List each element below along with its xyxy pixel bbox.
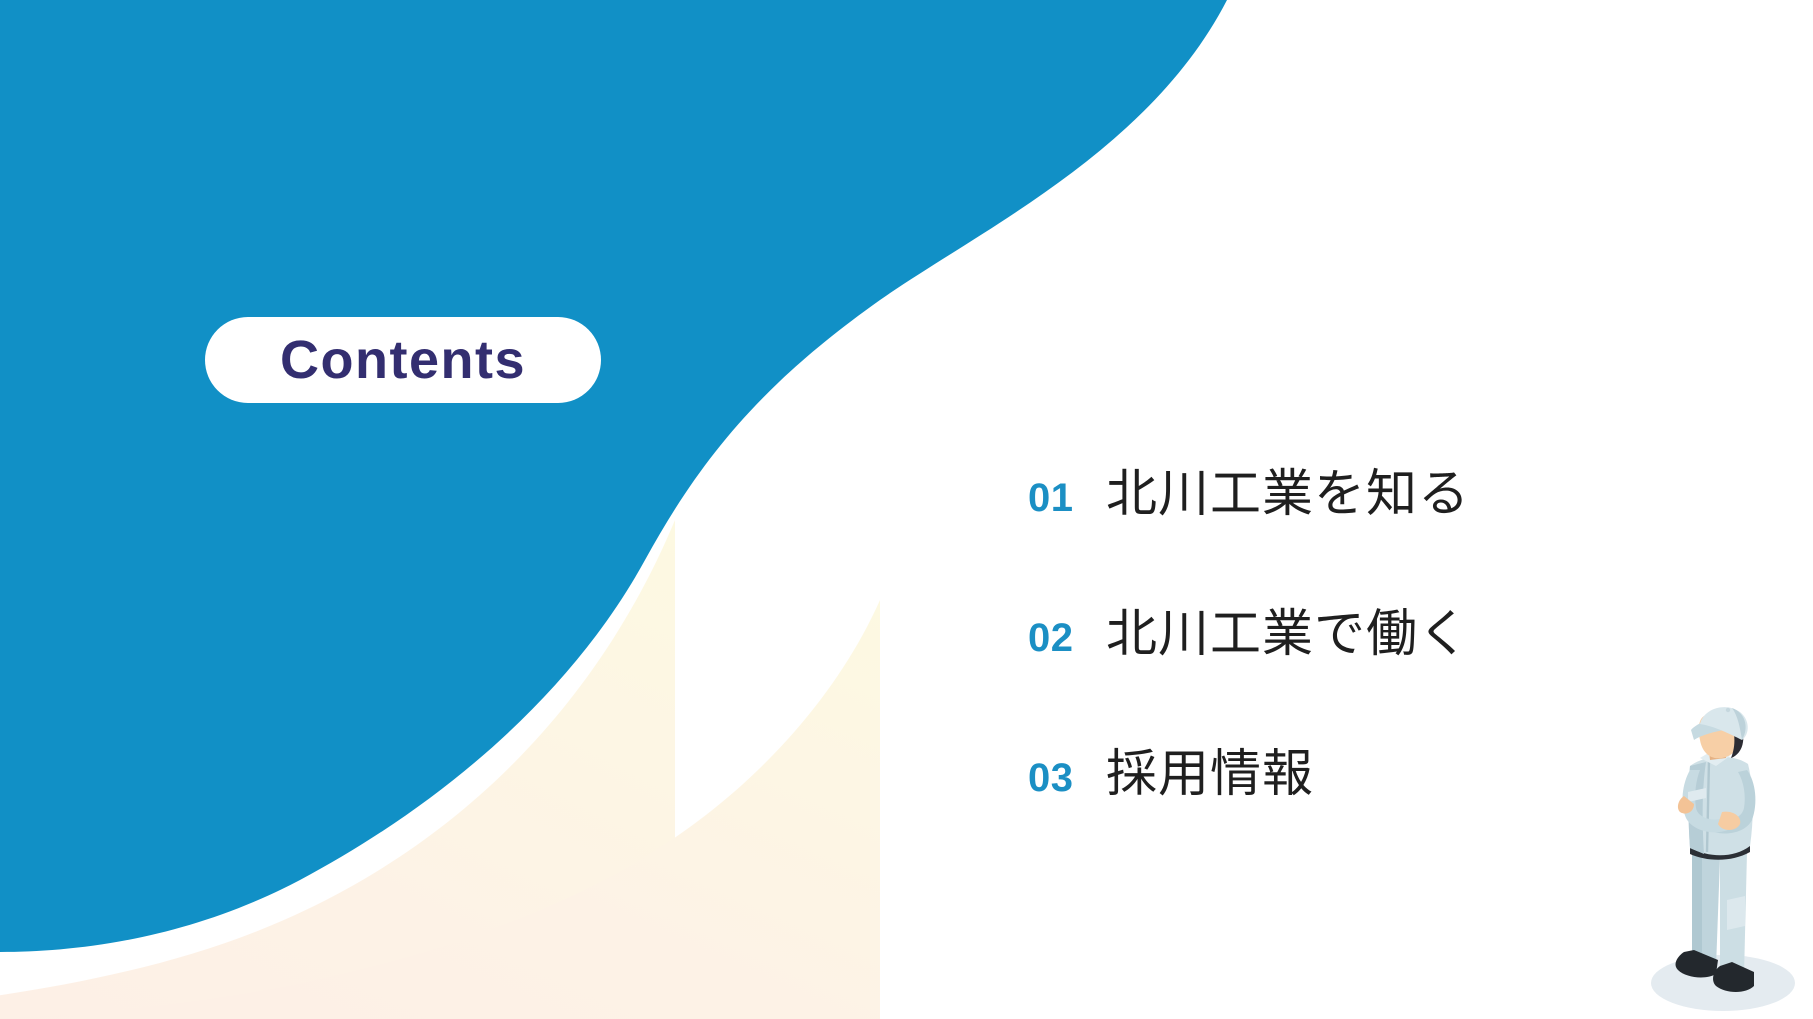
- contents-badge: Contents: [205, 317, 601, 403]
- agenda-number-03: 03: [1028, 756, 1106, 801]
- agenda-number-02: 02: [1028, 616, 1106, 661]
- agenda-label-01: 北川工業を知る: [1106, 452, 1470, 526]
- agenda-item-02[interactable]: 02 北川工業で働く: [1028, 592, 1668, 732]
- worker-cap-button: [1726, 708, 1730, 712]
- agenda-item-03[interactable]: 03 採用情報: [1028, 732, 1668, 872]
- worker-knee-pocket: [1727, 896, 1745, 930]
- agenda-label-03: 採用情報: [1106, 732, 1314, 806]
- contents-badge-label: Contents: [280, 333, 526, 387]
- agenda-number-01: 01: [1028, 476, 1106, 521]
- slide-canvas: Contents 01 北川工業を知る 02 北川工業で働く 03 採用情報: [0, 0, 1813, 1019]
- worker-illustration: [1628, 700, 1813, 1019]
- worker-trouser-shade: [1692, 850, 1702, 962]
- agenda-item-01[interactable]: 01 北川工業を知る: [1028, 452, 1668, 592]
- agenda-label-02: 北川工業で働く: [1106, 592, 1470, 666]
- agenda-list: 01 北川工業を知る 02 北川工業で働く 03 採用情報: [1028, 452, 1668, 872]
